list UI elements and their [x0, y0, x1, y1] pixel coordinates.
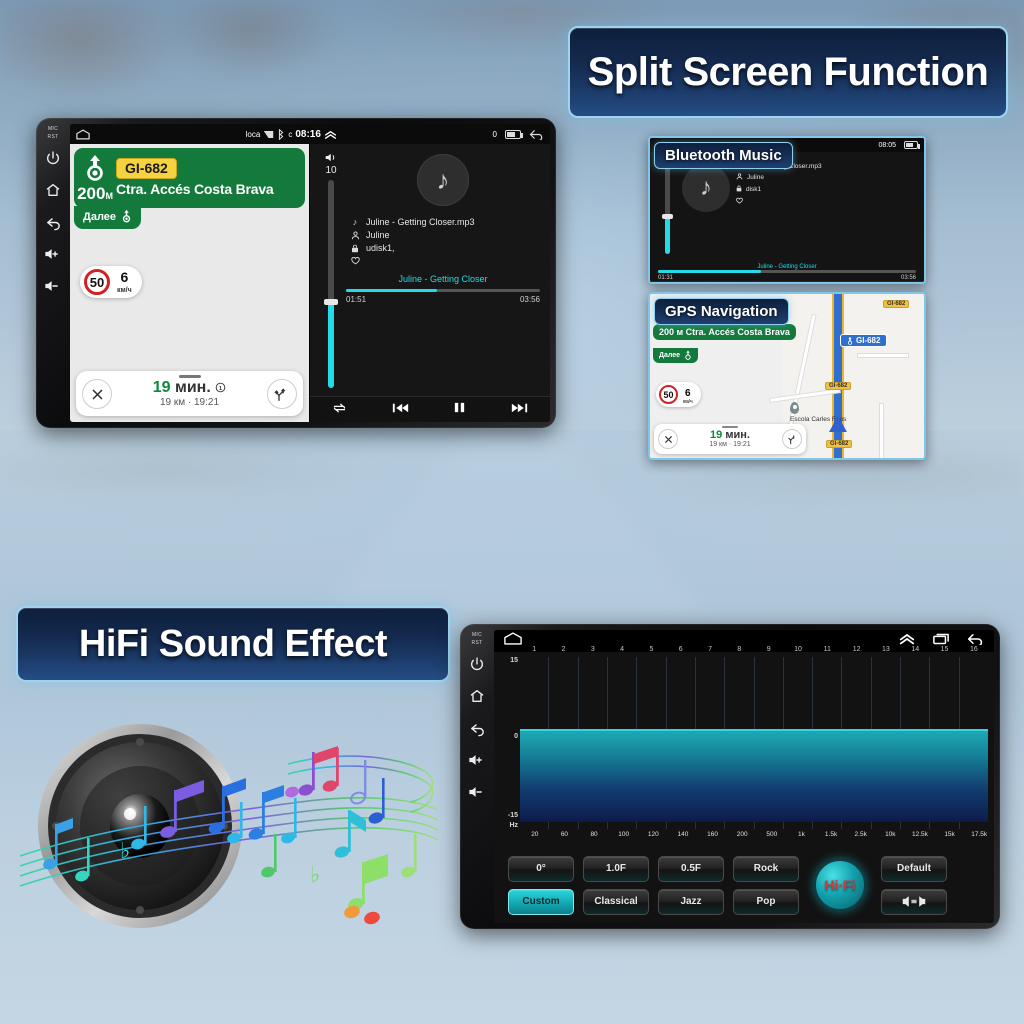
- music-main: ♪ ♪ Juline - Getting Closer.mp3 Juline: [344, 152, 542, 396]
- preview-gps-navigation[interactable]: GI-682 GI-682 GI-682 GI-682 Escola Carle…: [648, 292, 926, 460]
- eq-band-number: 14: [911, 646, 919, 653]
- person-icon: [350, 231, 360, 240]
- alternate-routes-icon: [787, 434, 798, 445]
- gps-nav-instruction: 200 м Ctra. Accés Costa Brava: [653, 324, 796, 340]
- shield-arrow-icon: [847, 336, 853, 345]
- gps-eta-bar: 19 мин. 19 км · 19:21: [654, 424, 806, 454]
- track-source-row: udisk1,: [350, 243, 542, 253]
- eq-frequency-label: 80: [579, 831, 609, 838]
- eq-band-number: 9: [767, 646, 771, 653]
- equalizer-x-axis: 2060801001201401602005001k1.5k2.5k10k12.…: [494, 831, 994, 847]
- eq-preset-pop[interactable]: Pop: [733, 889, 799, 915]
- back-button[interactable]: [42, 211, 64, 233]
- default-button[interactable]: Default: [881, 856, 947, 882]
- music-body: 10 ♪ ♪ Juline - Getting Closer.mp3: [310, 144, 550, 396]
- nav-next-arrow-icon: [121, 209, 132, 224]
- nav-distance-value: 200: [77, 184, 105, 203]
- gps-current-speed-value: 6: [685, 388, 691, 399]
- gps-vehicle-marker: [829, 416, 847, 432]
- home-button[interactable]: [42, 179, 64, 201]
- eq-band-number: 12: [853, 646, 861, 653]
- reset-label: RST: [48, 134, 59, 140]
- gps-shield-main-text: GI-682: [856, 336, 880, 345]
- gps-shield-main: GI-682: [840, 334, 887, 347]
- nav-speed-widget: 50 6 км/ч: [80, 266, 142, 298]
- preview-bt-artist: Juline: [747, 174, 764, 181]
- eq-band-number: 7: [708, 646, 712, 653]
- chevron-up-double-icon: [324, 130, 337, 139]
- bezel-main: MIC RST: [36, 118, 70, 428]
- gps-routes-button[interactable]: [782, 429, 802, 449]
- hifi-knob[interactable]: Hi·Fi: [814, 859, 866, 911]
- preview-bt-next-button[interactable]: [848, 283, 863, 284]
- album-art: ♪: [417, 154, 469, 206]
- hifi-reset-label: RST: [472, 640, 483, 646]
- gps-eta-line2: 19 км · 19:21: [709, 441, 750, 449]
- eq-preset-0-5f[interactable]: 0.5F: [658, 856, 724, 882]
- eq-preset-classical[interactable]: Classical: [583, 889, 649, 915]
- preview-bt-equalizer-button[interactable]: [895, 283, 908, 284]
- eq-band-number: 10: [794, 646, 802, 653]
- eq-frequency-label: 160: [698, 831, 728, 838]
- progress-area[interactable]: 01:51 03:56: [344, 289, 542, 304]
- progress-track[interactable]: [346, 289, 540, 292]
- next-icon: [511, 402, 528, 414]
- next-button[interactable]: [511, 401, 528, 419]
- track-file: Juline - Getting Closer.mp3: [366, 217, 475, 227]
- preview-bt-repeat-button[interactable]: [711, 283, 725, 284]
- preview-bt-progress-track[interactable]: [658, 270, 916, 273]
- track-source: udisk1,: [366, 243, 395, 253]
- preview-bluetooth-music[interactable]: 08:05 10 ♪ ♪Juline - Getting Closer.mp3 …: [648, 136, 926, 284]
- gps-next-label: Далее: [659, 352, 680, 359]
- nav-current-speed: 6 км/ч: [117, 270, 132, 294]
- volume-down-button[interactable]: [42, 275, 64, 297]
- eq-band-number: 2: [562, 646, 566, 653]
- track-file-row: ♪ Juline - Getting Closer.mp3: [350, 217, 542, 227]
- hifi-home-glyph-icon[interactable]: [504, 632, 522, 650]
- bluetooth-icon: [277, 129, 285, 140]
- power-button[interactable]: [42, 147, 64, 169]
- gps-shield-small-1: GI-682: [883, 300, 909, 308]
- volume-track[interactable]: [328, 180, 334, 388]
- nav-current-speed-value: 6: [120, 269, 128, 285]
- volume-icon: [325, 152, 338, 163]
- eq-band-number: 15: [941, 646, 949, 653]
- gps-eta-unit: мин.: [725, 429, 750, 441]
- equalizer-right-buttons: Default: [881, 856, 947, 915]
- head-unit-hifi: MIC RST: [460, 624, 1000, 929]
- gps-next-arrow-icon: [684, 350, 692, 361]
- gps-highway: [834, 294, 842, 460]
- gps-eta-line1: 19 мин.: [709, 429, 750, 441]
- alternate-routes-icon: [274, 387, 289, 402]
- gps-shield-small-2: GI-682: [825, 382, 851, 390]
- preview-bt-controls: [650, 281, 924, 285]
- hifi-home-button[interactable]: [466, 685, 488, 707]
- cast-icon: [263, 130, 274, 139]
- close-icon: [91, 388, 104, 401]
- preview-bt-progress-fill: [658, 270, 761, 273]
- svg-text:♭: ♭: [310, 862, 320, 887]
- gps-speed-limit: 50: [659, 385, 678, 404]
- gps-nav-next: Далее: [653, 348, 698, 363]
- head-unit-main: MIC RST loca c 08:16: [36, 118, 556, 428]
- preview-bt-source: disk1: [746, 186, 761, 193]
- balance-button[interactable]: [881, 889, 947, 915]
- heart-icon[interactable]: [350, 256, 360, 265]
- volume-level: 10: [325, 165, 336, 176]
- battery-percent: 0: [493, 130, 497, 139]
- bezel-hifi: MIC RST: [460, 624, 494, 929]
- eq-frequency-label: 10k: [876, 831, 906, 838]
- eq-preset-0[interactable]: 0°: [508, 856, 574, 882]
- preview-bt-heart-icon[interactable]: [736, 197, 743, 206]
- nav-routes-button[interactable]: [267, 379, 297, 409]
- preview-bluetooth-label: Bluetooth Music: [654, 142, 793, 169]
- music-controls: [310, 396, 550, 422]
- nav-distance: 200М: [77, 185, 113, 202]
- nav-road-shield: GI-682: [116, 158, 177, 178]
- eq-frequency-label: 200: [727, 831, 757, 838]
- battery-icon: [505, 130, 521, 139]
- nav-destination-block: GI-682 Ctra. Accés Costa Brava: [116, 158, 297, 196]
- preview-bt-artist-row: Juline: [736, 173, 918, 182]
- eq-frequency-label: 2.5k: [846, 831, 876, 838]
- preview-bt-playlist-button[interactable]: [666, 283, 679, 284]
- mic-label: MIC: [48, 126, 58, 132]
- progress-fill: [346, 289, 437, 292]
- route-badge-icon: 1: [215, 382, 226, 393]
- eq-band-number: 11: [824, 646, 831, 653]
- gps-speed-unit: км/ч: [683, 400, 693, 405]
- hifi-back-button[interactable]: [466, 717, 488, 739]
- hifi-power-button[interactable]: [466, 653, 488, 675]
- eq-unit-label: Hz: [509, 822, 518, 829]
- eq-preset-jazz[interactable]: Jazz: [658, 889, 724, 915]
- gps-speed-widget: 50 6 км/ч: [656, 382, 701, 407]
- eq-frequency-label: 500: [757, 831, 787, 838]
- hifi-screen: 15 0 -15 Hz 12345678910111213141516 2060…: [494, 630, 994, 923]
- gps-shield-small-3: GI-682: [826, 440, 852, 448]
- gps-current-speed: 6 км/ч: [683, 384, 693, 405]
- hifi-volume-down-button[interactable]: [466, 781, 488, 803]
- gps-poi-pin-icon: [790, 402, 799, 414]
- status-carrier-suffix: c: [288, 130, 292, 139]
- eq-frequency-label: 12.5k: [905, 831, 935, 838]
- repeat-button[interactable]: [332, 401, 347, 419]
- banner-split-screen: Split Screen Function: [568, 26, 1008, 118]
- eq-preset-1-0f[interactable]: 1.0F: [583, 856, 649, 882]
- status-middle: loca c 08:16: [95, 129, 488, 140]
- equalizer-area[interactable]: 15 0 -15 Hz 12345678910111213141516: [494, 652, 994, 831]
- equalizer-buttons: 0°1.0F0.5FRockCustomClassicalJazzPop Hi·…: [494, 847, 994, 923]
- equalizer-curve-fill: [520, 729, 988, 822]
- preview-bt-person-icon: [736, 173, 743, 182]
- status-bar: loca c 08:16 0: [70, 124, 550, 144]
- equalizer-preset-grid: 0°1.0F0.5FRockCustomClassicalJazzPop: [508, 856, 799, 915]
- nav-maneuver-arrow-icon: 200М: [82, 153, 108, 202]
- nav-next-maneuver: Далее: [74, 206, 141, 229]
- gps-street-2: [858, 354, 908, 357]
- eq-band-number: 13: [882, 646, 890, 653]
- track-favorite-row[interactable]: [350, 256, 542, 265]
- hifi-mic-label: MIC: [472, 632, 482, 638]
- music-pane[interactable]: 10 ♪ ♪ Juline - Getting Closer.mp3: [310, 144, 550, 422]
- preview-bt-elapsed: 01:31: [658, 275, 673, 281]
- duration-time: 03:56: [520, 295, 540, 304]
- balance-icon: [901, 895, 927, 908]
- eq-band-number: 6: [679, 646, 683, 653]
- preview-bt-metadata: ♪Juline - Getting Closer.mp3 Juline disk…: [736, 156, 918, 260]
- gps-eta-minutes: 19: [710, 429, 722, 441]
- nav-eta-line1: 19 мин. 1: [153, 379, 226, 397]
- nav-distance-unit: М: [105, 191, 113, 201]
- preview-bt-progress[interactable]: 01:31 03:56: [650, 270, 924, 281]
- volume-fill: [328, 301, 334, 388]
- back-glyph-icon: [529, 129, 544, 140]
- eq-preset-custom[interactable]: Custom: [508, 889, 574, 915]
- eq-frequency-label: 1k: [787, 831, 817, 838]
- preview-bt-source-row: disk1: [736, 185, 918, 194]
- close-icon: [664, 435, 673, 444]
- eq-frequency-label: 1.5k: [816, 831, 846, 838]
- volume-slider[interactable]: 10: [318, 152, 344, 396]
- now-playing: Juline - Getting Closer: [344, 274, 542, 284]
- eq-frequency-label: 60: [550, 831, 580, 838]
- note-icon: ♪: [350, 217, 360, 227]
- eq-frequency-label: 140: [668, 831, 698, 838]
- nav-speed-unit: км/ч: [117, 287, 132, 294]
- nav-instruction-banner: 200М GI-682 Ctra. Accés Costa Brava: [74, 148, 305, 208]
- preview-bt-time: 08:05: [878, 142, 896, 149]
- eq-frequency-label: 120: [639, 831, 669, 838]
- gps-eta-text: 19 мин. 19 км · 19:21: [709, 429, 750, 449]
- status-time: 08:16: [295, 129, 321, 140]
- eq-frequency-label: 15k: [935, 831, 965, 838]
- previous-button[interactable]: [392, 401, 409, 419]
- preview-bt-fav-row[interactable]: [736, 197, 918, 206]
- elapsed-time: 01:51: [346, 295, 366, 304]
- storage-lock-icon: [350, 244, 360, 253]
- home-glyph-icon: [76, 129, 90, 140]
- previous-icon: [392, 402, 409, 414]
- preview-bt-volume[interactable]: 10: [656, 156, 678, 260]
- eq-preset-rock[interactable]: Rock: [733, 856, 799, 882]
- preview-bt-lock-icon: [736, 185, 742, 194]
- hifi-volume-up-button[interactable]: [466, 749, 488, 771]
- preview-bt-album-art: ♪: [682, 164, 730, 212]
- track-artist: Juline: [366, 230, 390, 240]
- banner-split-screen-text: Split Screen Function: [588, 50, 989, 95]
- eq-band-number: 16: [970, 646, 978, 653]
- eq-frequency-label: 17.5k: [964, 831, 994, 838]
- status-carrier: loca: [246, 130, 261, 139]
- eq-band-number: 3: [591, 646, 595, 653]
- banner-hifi-sound: HiFi Sound Effect: [16, 606, 450, 682]
- track-metadata: ♪ Juline - Getting Closer.mp3 Juline: [344, 214, 542, 268]
- main-screen: loca c 08:16 0: [70, 124, 550, 422]
- preview-bt-volume-track[interactable]: [665, 166, 670, 254]
- pause-icon: [453, 401, 466, 414]
- preview-bt-volume-fill: [665, 217, 670, 254]
- nav-next-label: Далее: [83, 211, 116, 223]
- volume-up-button[interactable]: [42, 243, 64, 265]
- eq-y-bottom: -15: [508, 812, 518, 819]
- nav-street-name: Ctra. Accés Costa Brava: [116, 181, 297, 197]
- equalizer-y-axis: 15 0 -15 Hz: [498, 657, 520, 829]
- status-right: 0: [493, 129, 544, 140]
- eq-band-number: 4: [620, 646, 624, 653]
- pause-button[interactable]: [453, 401, 466, 419]
- hifi-knob-label: Hi·Fi: [824, 877, 855, 893]
- gps-street-4: [880, 404, 883, 460]
- nav-speed-limit: 50: [84, 269, 110, 295]
- volume-knob[interactable]: [324, 299, 338, 305]
- repeat-icon: [332, 402, 347, 414]
- preview-bt-pause-button[interactable]: [805, 283, 816, 284]
- preview-bt-previous-button[interactable]: [757, 283, 772, 284]
- nav-eta-unit: мин.: [175, 379, 211, 396]
- speaker-music-illustration: ♭ ♭: [20, 706, 440, 946]
- status-left: [76, 129, 90, 140]
- split-screen-container: 200М GI-682 Ctra. Accés Costa Brava Дале…: [70, 144, 550, 422]
- preview-bt-duration: 03:56: [901, 275, 916, 281]
- svg-text:♭: ♭: [120, 838, 130, 863]
- eq-frequency-label: 100: [609, 831, 639, 838]
- nav-eta-minutes: 19: [153, 379, 171, 396]
- gps-cancel-button[interactable]: [658, 429, 678, 449]
- equalizer-plot[interactable]: 12345678910111213141516: [520, 657, 988, 829]
- preview-gps-label: GPS Navigation: [654, 298, 789, 325]
- eq-y-mid: 0: [514, 733, 518, 740]
- nav-eta-bar: 19 мин. 1 19 км · 19:21: [76, 371, 303, 416]
- navigation-pane[interactable]: 200М GI-682 Ctra. Accés Costa Brava Дале…: [70, 144, 310, 422]
- eq-band-number: 5: [649, 646, 653, 653]
- progress-times: 01:51 03:56: [346, 295, 540, 304]
- nav-eta-line2: 19 км · 19:21: [153, 397, 226, 409]
- nav-eta-text: 19 мин. 1 19 км · 19:21: [153, 379, 226, 409]
- preview-bt-battery-icon: [904, 141, 918, 149]
- eq-y-top: 15: [510, 657, 518, 664]
- banner-hifi-sound-text: HiFi Sound Effect: [79, 623, 387, 666]
- preview-bt-volume-knob[interactable]: [662, 214, 673, 219]
- svg-text:1: 1: [219, 386, 222, 392]
- eq-band-number: 1: [532, 646, 536, 653]
- eq-band-number: 8: [737, 646, 741, 653]
- nav-cancel-button[interactable]: [82, 379, 112, 409]
- eq-frequency-label: 20: [520, 831, 550, 838]
- track-artist-row: Juline: [350, 230, 542, 240]
